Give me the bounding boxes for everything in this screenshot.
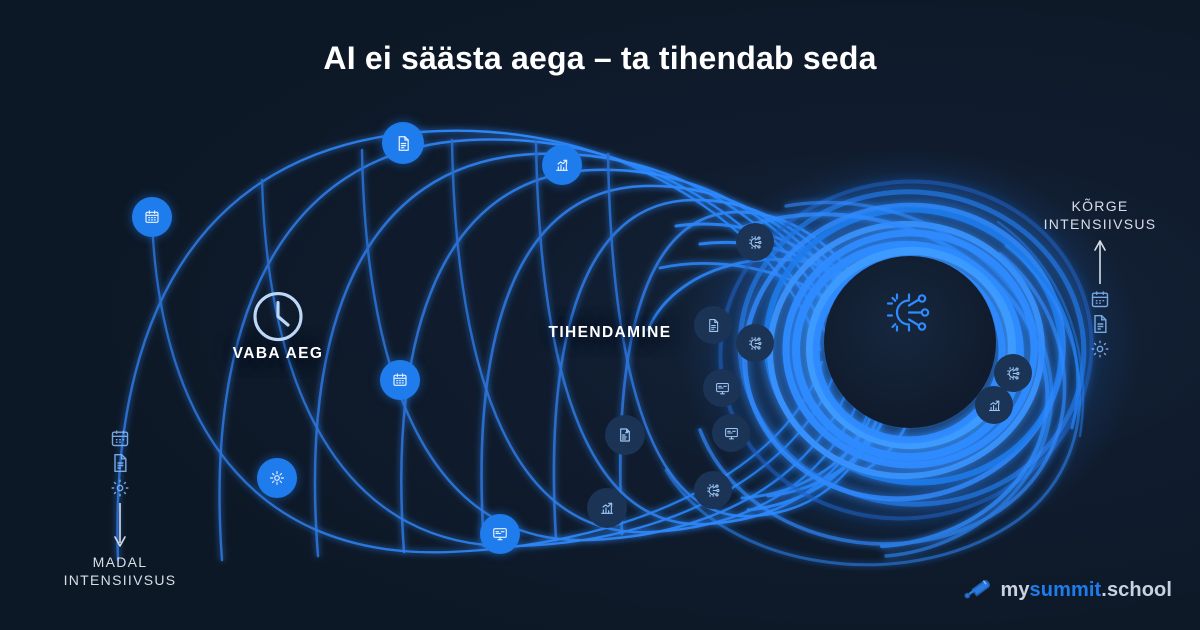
infographic-canvas: AI ei säästa aega – ta tihendab seda VAB… xyxy=(0,0,1200,630)
spiral-node-gear-icon xyxy=(257,458,297,498)
document-icon xyxy=(110,453,130,473)
spiral-node-document-icon xyxy=(694,306,732,344)
gear-icon xyxy=(110,478,130,498)
spiral-node-calendar-icon xyxy=(132,197,172,237)
logo-wordmark: mysummit.school xyxy=(1000,579,1172,602)
logo-part-my: my xyxy=(1000,579,1029,601)
brand-logo[interactable]: mysummit.school xyxy=(964,577,1172,604)
spiral-node-document-icon xyxy=(382,122,424,164)
page-title: AI ei säästa aega – ta tihendab seda xyxy=(0,40,1200,77)
spiral-node-report-icon xyxy=(605,415,645,455)
core-disc xyxy=(824,256,996,428)
low-intensity-caption: MADAL INTENSIIVSUS xyxy=(64,554,177,589)
calendar-icon xyxy=(110,428,130,448)
low-caption-line2: INTENSIIVSUS xyxy=(64,572,177,588)
spiral-node-bar-chart-icon xyxy=(542,145,582,185)
high-intensity-caption: KÕRGE INTENSIIVSUS xyxy=(1044,198,1157,233)
gear-icon xyxy=(1090,339,1110,359)
logo-part-school: .school xyxy=(1101,579,1172,601)
spiral-node-monitor-icon xyxy=(712,414,750,452)
arrow-up-icon xyxy=(1093,238,1107,284)
high-caption-line2: INTENSIIVSUS xyxy=(1044,216,1157,232)
high-intensity-group: KÕRGE INTENSIIVSUS xyxy=(1030,198,1170,359)
low-intensity-group: MADAL INTENSIIVSUS xyxy=(52,428,188,589)
spiral-node-ai-gear-icon xyxy=(736,324,774,362)
arrow-down-icon xyxy=(113,503,127,549)
spiral-node-monitor-icon xyxy=(703,369,741,407)
spiral-node-ai-gear-icon xyxy=(736,223,774,261)
spiral-node-monitor-icon xyxy=(480,514,520,554)
logo-part-summit: summit xyxy=(1030,579,1102,601)
spiral-node-bar-chart-icon xyxy=(587,488,627,528)
document-icon xyxy=(1090,314,1110,334)
spiral-node-clock-icon xyxy=(248,286,308,346)
calendar-icon xyxy=(1090,289,1110,309)
low-caption-line1: MADAL xyxy=(93,554,148,570)
spiral-node-bar-chart-icon xyxy=(975,386,1013,424)
spiral-node-calendar-icon xyxy=(380,360,420,400)
label-compression: TIHENDAMINE xyxy=(510,324,710,342)
spiral-node-ai-gear-icon xyxy=(694,471,732,509)
high-caption-line1: KÕRGE xyxy=(1071,198,1128,214)
telescope-icon xyxy=(964,577,992,604)
ai-gear-circuit-icon xyxy=(882,289,938,342)
